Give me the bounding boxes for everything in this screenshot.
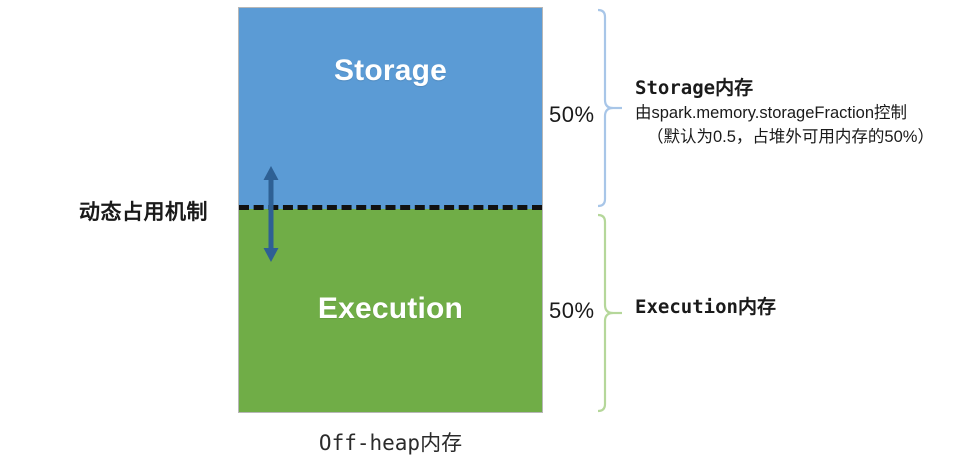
- storage-annotation: Storage内存 由spark.memory.storageFraction控…: [635, 76, 971, 149]
- storage-region: Storage: [239, 8, 542, 209]
- execution-region-label: Execution: [318, 292, 463, 326]
- execution-annotation: Execution内存: [635, 295, 865, 321]
- storage-percent-label: 50%: [549, 102, 595, 128]
- execution-percent-label: 50%: [549, 298, 595, 324]
- storage-bracket: [596, 8, 622, 208]
- dynamic-boundary-divider: [239, 205, 542, 210]
- double-headed-arrow-icon: [262, 166, 280, 262]
- storage-annotation-line-2: （默认为0.5，占堆外可用内存的50%）: [635, 126, 971, 150]
- memory-box: Storage Execution: [239, 8, 542, 412]
- execution-bracket: [596, 213, 622, 413]
- diagram-caption: Off-heap内存: [239, 427, 542, 457]
- storage-annotation-title: Storage内存: [635, 76, 971, 102]
- execution-region: Execution: [239, 209, 542, 412]
- dynamic-mechanism-label: 动态占用机制: [79, 196, 208, 226]
- storage-region-label: Storage: [334, 54, 447, 88]
- execution-annotation-title: Execution内存: [635, 295, 865, 321]
- storage-annotation-line-1: 由spark.memory.storageFraction控制: [635, 102, 971, 126]
